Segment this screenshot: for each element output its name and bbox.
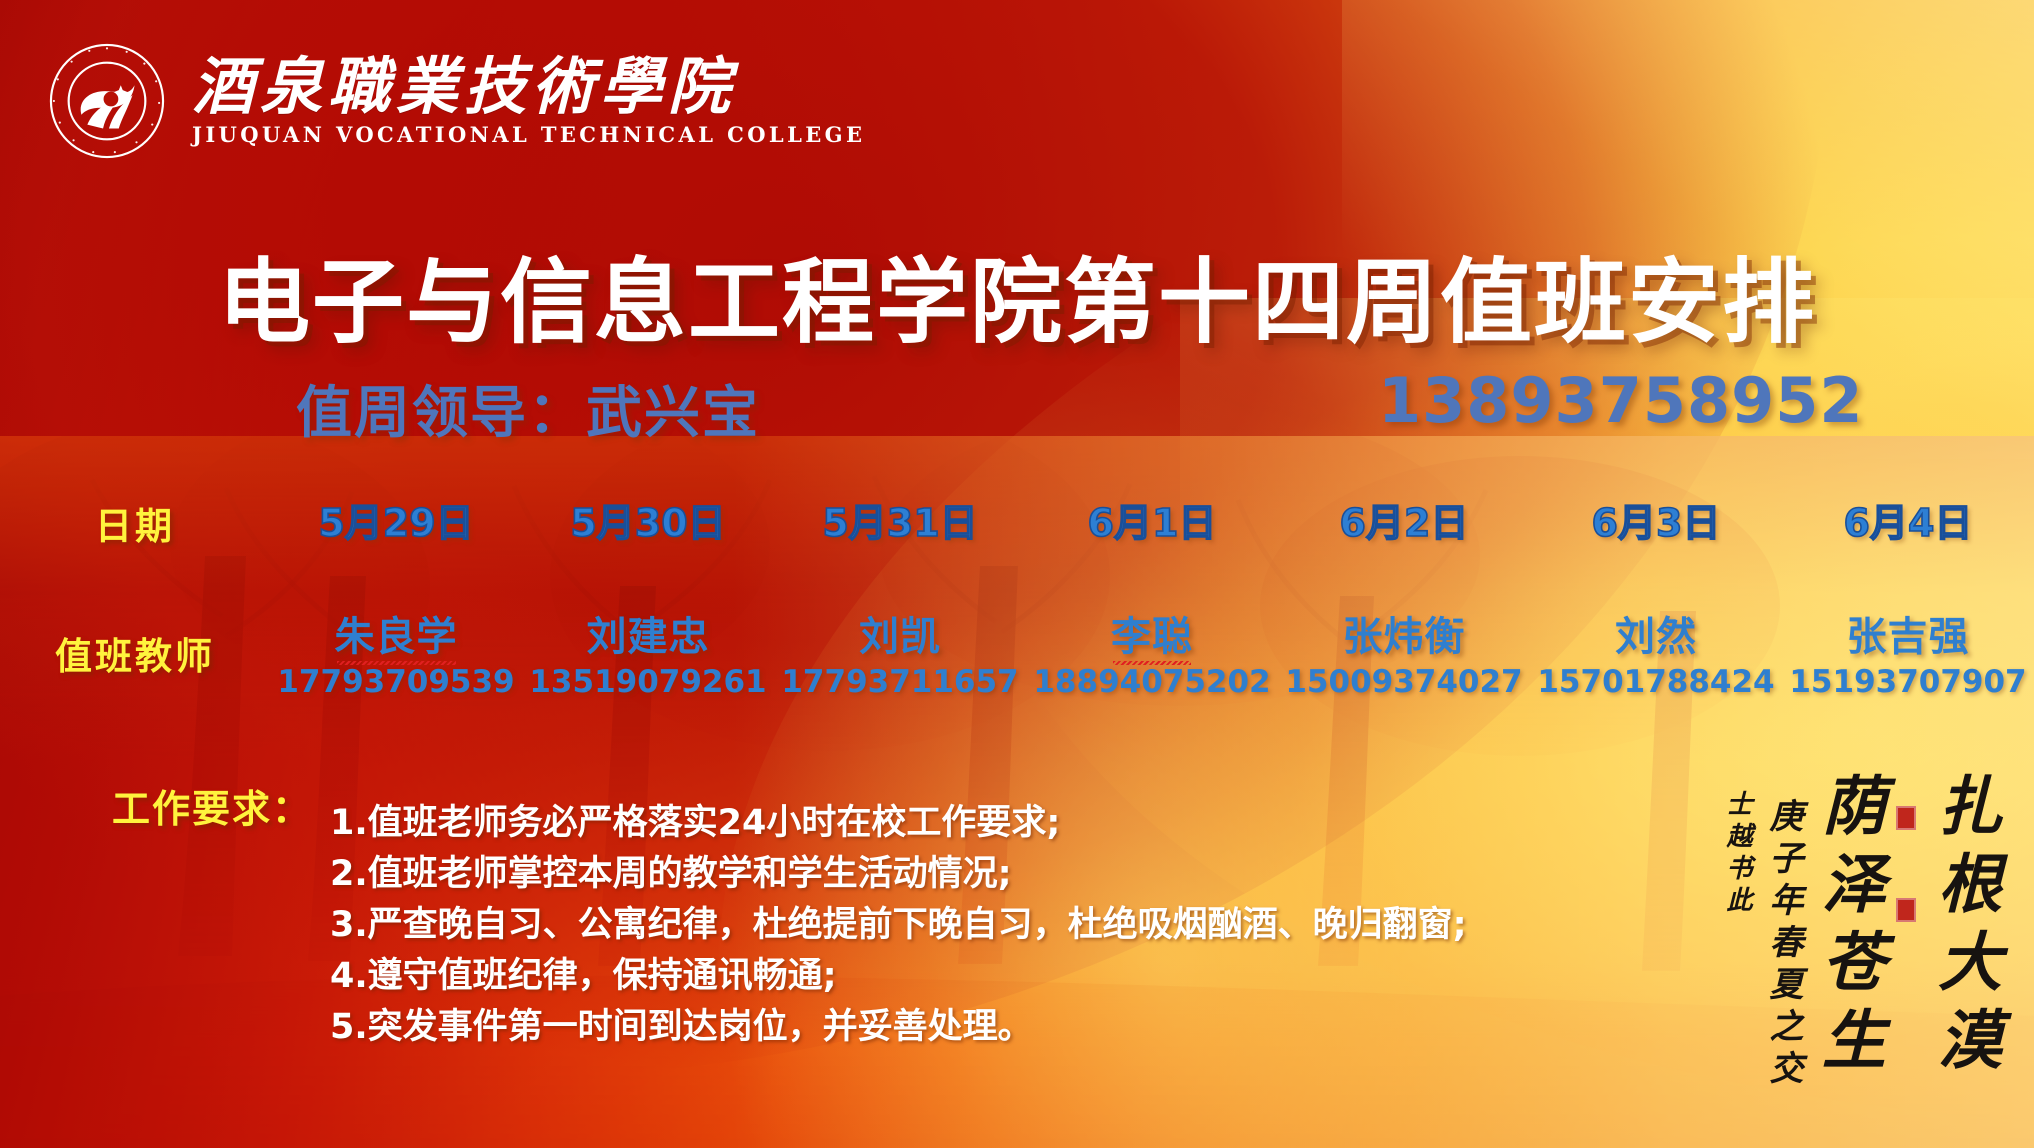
teacher-name: 刘然 xyxy=(1615,604,1697,662)
date-text: 6月2日 xyxy=(1340,501,1469,545)
duty-schedule: 日期 5月29日5月30日5月31日6月1日6月2日6月3日6月4日 值班教师 … xyxy=(0,492,2034,700)
requirement-item: 5.突发事件第一时间到达岗位，并妥善处理。 xyxy=(330,1002,1467,1053)
teacher-name: 刘建忠 xyxy=(587,604,710,662)
date-text: 5月29日 xyxy=(318,501,473,545)
teacher-cell: 刘然15701788424 xyxy=(1530,604,1782,700)
calligraphy-signature-2: 士越书此 xyxy=(1724,772,1750,918)
date-cell: 5月29日 xyxy=(270,492,522,547)
jiuquan-college-emblem-icon xyxy=(48,42,166,160)
teacher-row-label: 值班教师 xyxy=(0,604,270,680)
leader-row: 值周领导：武兴宝 13893758952 xyxy=(0,368,2034,446)
date-text: 6月3日 xyxy=(1592,501,1721,545)
date-text: 6月1日 xyxy=(1088,501,1217,545)
teacher-phone: 17793711657 xyxy=(774,664,1026,700)
date-cells: 5月29日5月30日5月31日6月1日6月2日6月3日6月4日 xyxy=(270,492,2034,547)
date-row-label: 日期 xyxy=(0,492,270,550)
brand-header: 酒泉職業技術學院 JIUQUAN VOCATIONAL TECHNICAL CO… xyxy=(48,42,865,160)
date-row: 日期 5月29日5月30日5月31日6月1日6月2日6月3日6月4日 xyxy=(0,492,2034,550)
college-name-block: 酒泉職業技術學院 JIUQUAN VOCATIONAL TECHNICAL CO… xyxy=(192,55,865,147)
calligraphy-artwork: 士越书此 庚子年春夏之交 荫泽苍生 扎根大漠 xyxy=(1724,772,1996,1092)
requirements-list: 1.值班老师务必严格落实24小时在校工作要求;2.值班老师掌控本周的教学和学生活… xyxy=(330,798,1467,1053)
teacher-cell: 刘建忠13519079261 xyxy=(522,604,774,700)
date-text: 6月4日 xyxy=(1844,501,1973,545)
requirement-item: 1.值班老师务必严格落实24小时在校工作要求; xyxy=(330,798,1467,849)
teacher-row: 值班教师 朱良学17793709539刘建忠13519079261刘凯17793… xyxy=(0,604,2034,700)
poster-root: 酒泉職業技術學院 JIUQUAN VOCATIONAL TECHNICAL CO… xyxy=(0,0,2034,1148)
teacher-name: 李聪 xyxy=(1111,604,1193,662)
teacher-phone: 15701788424 xyxy=(1530,664,1782,700)
page-title: 电子与信息工程学院第十四周值班安排 xyxy=(0,228,2034,361)
requirements-heading: 工作要求： xyxy=(112,778,312,833)
teacher-cell: 张吉强15193707907 xyxy=(1782,604,2034,700)
teacher-name: 张炜衡 xyxy=(1343,604,1466,662)
requirement-item: 2.值班老师掌控本周的教学和学生活动情况; xyxy=(330,849,1467,900)
college-name-cn: 酒泉職業技術學院 xyxy=(192,55,865,118)
calligraphy-line-main: 扎根大漠 xyxy=(1932,772,1996,1084)
teacher-name: 朱良学 xyxy=(335,604,458,662)
leader-name: 值周领导：武兴宝 xyxy=(296,368,760,449)
date-cell: 5月31日 xyxy=(774,492,1026,547)
date-text: 5月31日 xyxy=(822,501,977,545)
teacher-phone: 18894075202 xyxy=(1026,664,1278,700)
teacher-phone: 15193707907 xyxy=(1782,664,2034,700)
teacher-phone: 15009374027 xyxy=(1278,664,1530,700)
date-cell: 6月3日 xyxy=(1530,492,1782,547)
calligraphy-line-sub: 荫泽苍生 xyxy=(1816,772,1880,1084)
college-name-en: JIUQUAN VOCATIONAL TECHNICAL COLLEGE xyxy=(192,122,865,147)
date-cell: 5月30日 xyxy=(522,492,774,547)
seal-icon-small-2 xyxy=(1896,898,1916,922)
date-cell: 6月4日 xyxy=(1782,492,2034,547)
date-text: 5月30日 xyxy=(570,501,725,545)
teacher-cell: 朱良学17793709539 xyxy=(270,604,522,700)
teacher-phone: 13519079261 xyxy=(522,664,774,700)
teacher-phone: 17793709539 xyxy=(270,664,522,700)
teacher-cell: 李聪18894075202 xyxy=(1026,604,1278,700)
seal-icon-small xyxy=(1896,806,1916,830)
date-cell: 6月1日 xyxy=(1026,492,1278,547)
requirement-item: 4.遵守值班纪律，保持通讯畅通; xyxy=(330,951,1467,1002)
teacher-cell: 张炜衡15009374027 xyxy=(1278,604,1530,700)
teacher-cells: 朱良学17793709539刘建忠13519079261刘凯1779371165… xyxy=(270,604,2034,700)
teacher-cell: 刘凯17793711657 xyxy=(774,604,1026,700)
teacher-name: 张吉强 xyxy=(1847,604,1970,662)
calligraphy-signature: 庚子年春夏之交 xyxy=(1766,772,1800,1092)
date-cell: 6月2日 xyxy=(1278,492,1530,547)
requirement-item: 3.严查晚自习、公寓纪律，杜绝提前下晚自习，杜绝吸烟酗酒、晚归翻窗; xyxy=(330,900,1467,951)
calligraphy-seals xyxy=(1896,772,1916,922)
teacher-name: 刘凯 xyxy=(859,604,941,662)
leader-phone: 13893758952 xyxy=(1378,364,1864,437)
